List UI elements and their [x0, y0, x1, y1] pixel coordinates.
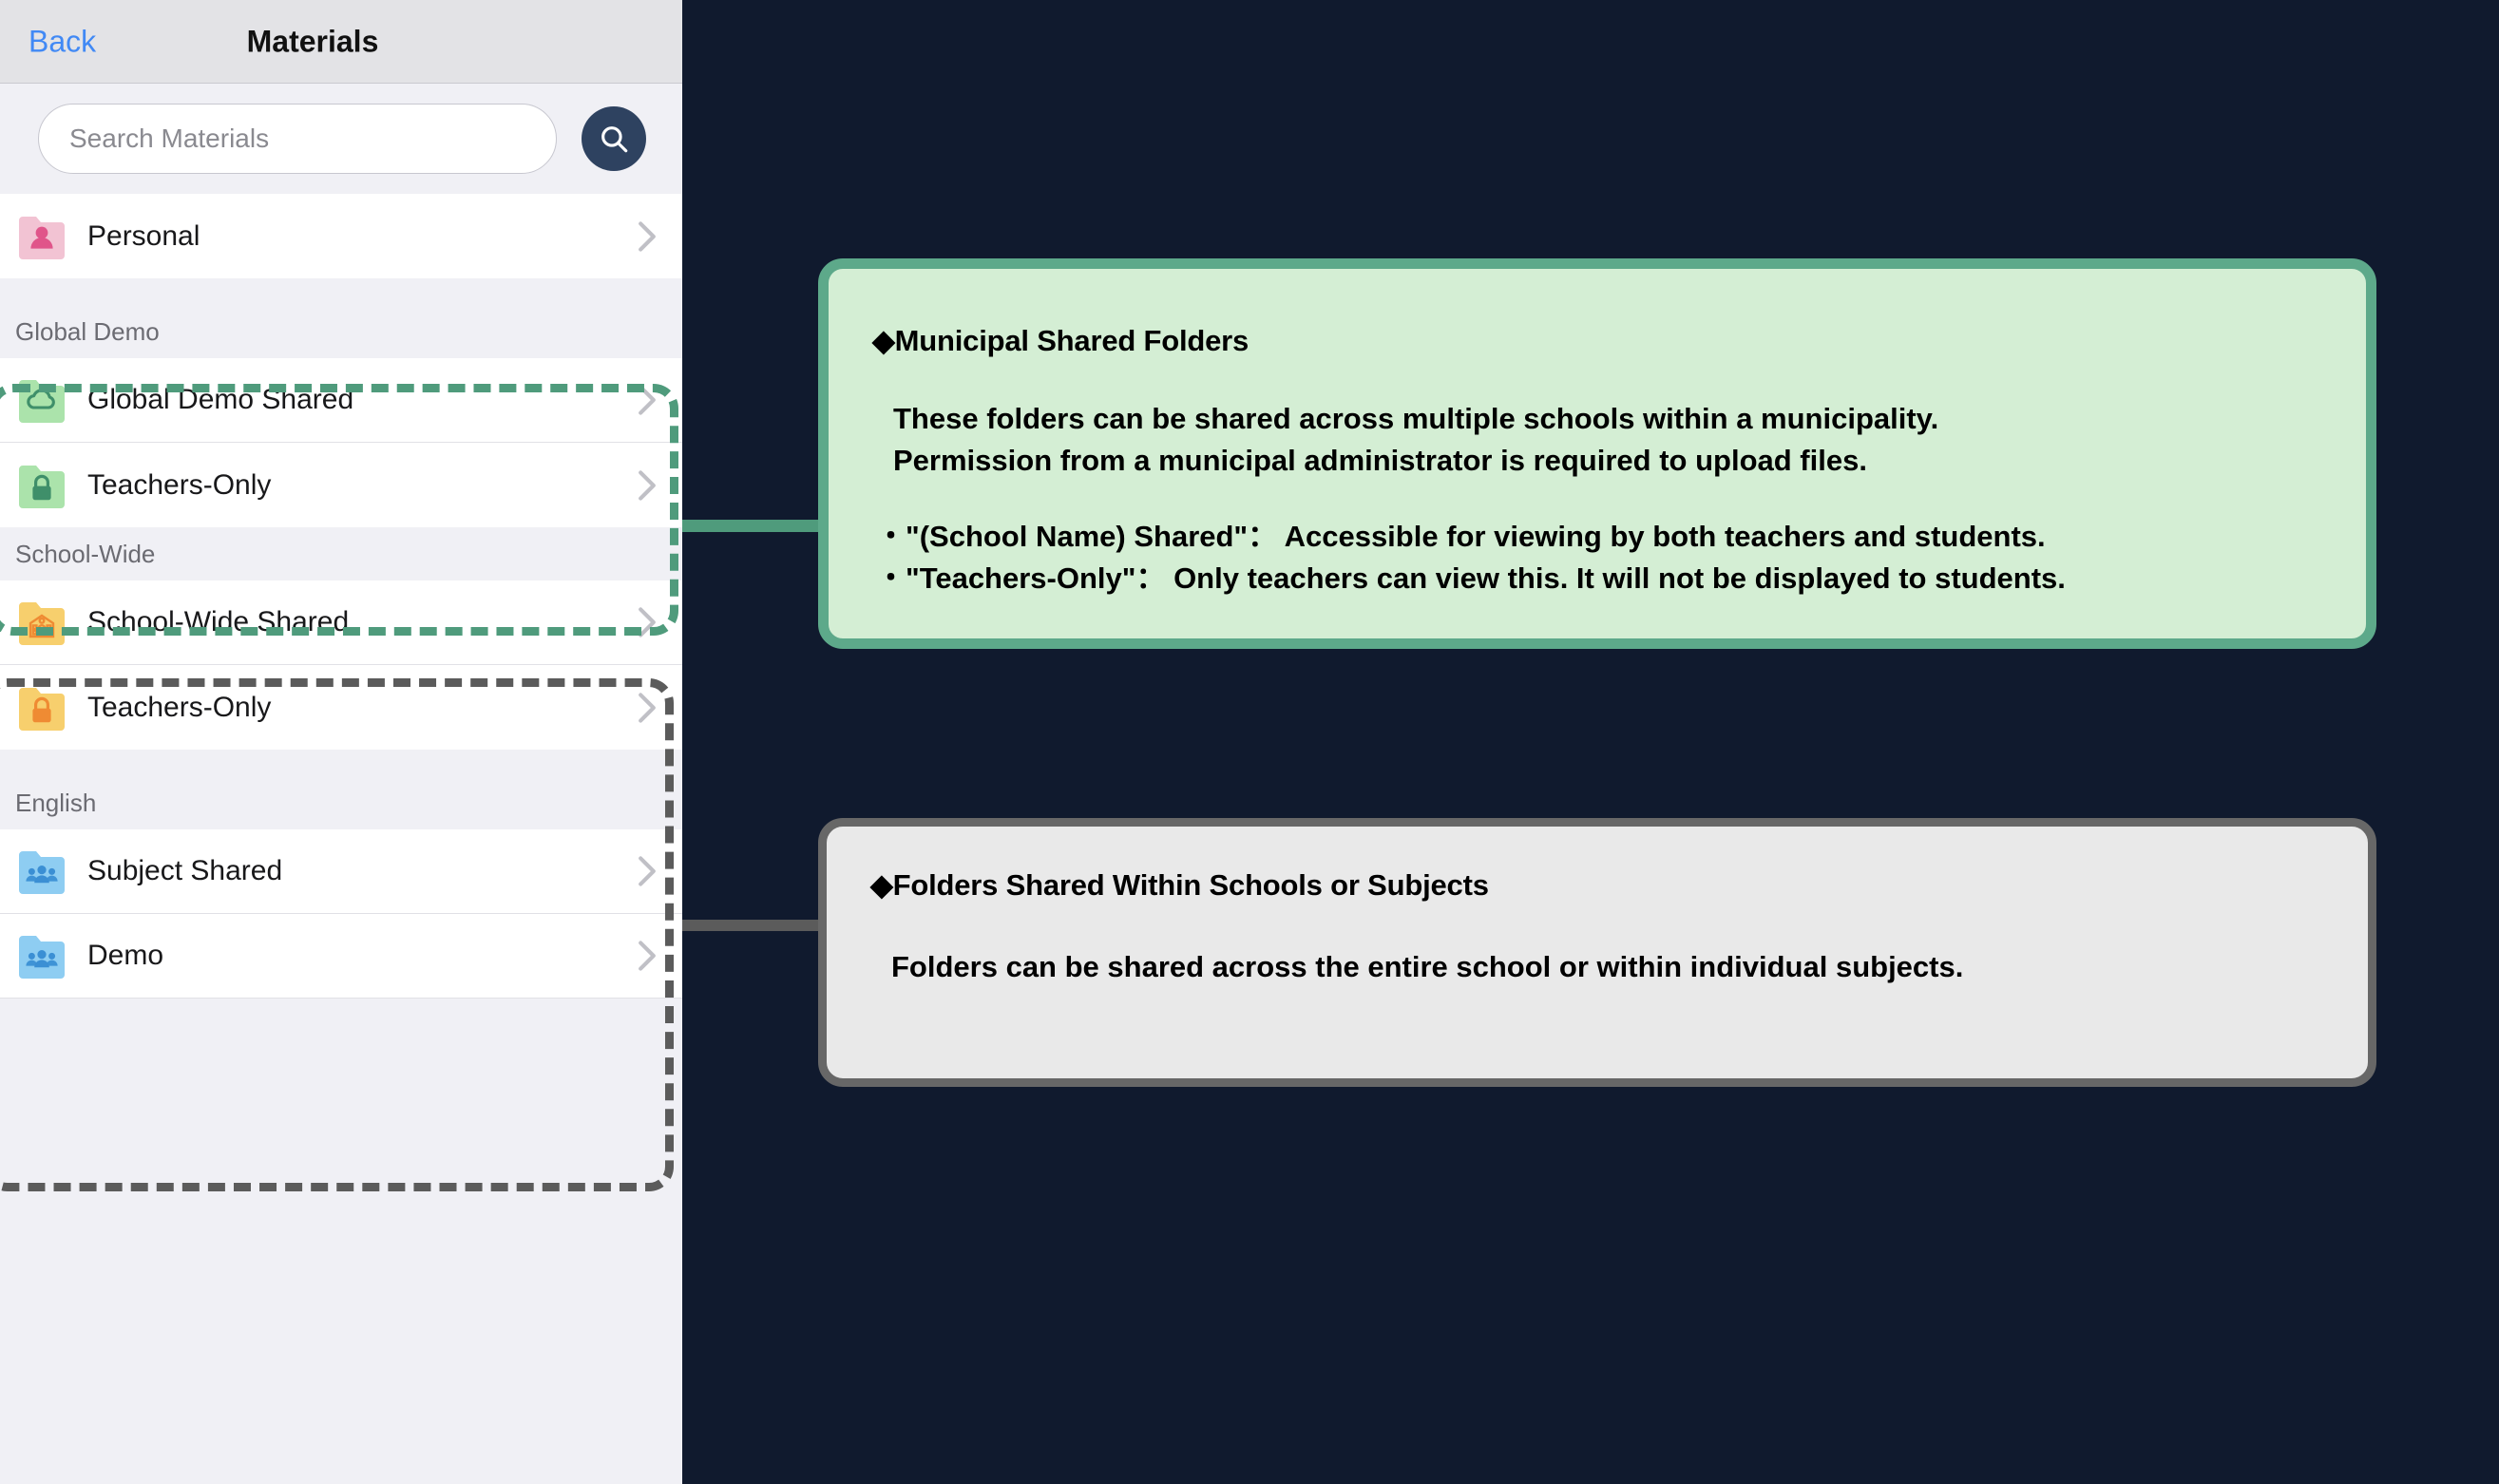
list-item-personal[interactable]: Personal [0, 194, 682, 278]
list-item-label: Global Demo Shared [87, 384, 637, 416]
search-input[interactable] [38, 104, 557, 174]
callout-paragraph: Folders can be shared across the entire … [870, 946, 2317, 988]
callout-bullet-item: ・"Teachers-Only"： Only teachers can view… [876, 558, 2315, 599]
list-spacer [0, 278, 682, 305]
materials-sidebar: Back Materials Personal G [0, 0, 682, 1484]
folder-lock-icon [17, 683, 67, 732]
connector-line-green [665, 520, 819, 532]
search-icon [598, 123, 630, 155]
section-header-english: English [0, 776, 682, 829]
callout-title: ◆Folders Shared Within Schools or Subjec… [870, 868, 2317, 903]
list-item-subject-shared[interactable]: Subject Shared [0, 829, 682, 914]
callout-folders-shared-within-schools: ◆Folders Shared Within Schools or Subjec… [818, 818, 2376, 1087]
list-item-school-wide-shared[interactable]: School-Wide Shared [0, 580, 682, 665]
list-spacer [0, 750, 682, 776]
list-item-global-demo-shared[interactable]: Global Demo Shared [0, 358, 682, 443]
callout-paragraph-line: Folders can be shared across the entire … [891, 946, 2317, 988]
navigation-bar: Back Materials [0, 0, 682, 84]
callout-paragraph-line: These folders can be shared across multi… [893, 398, 2315, 440]
list-item-label: Teachers-Only [87, 692, 637, 724]
callout-title: ◆Municipal Shared Folders [872, 324, 2315, 358]
chevron-right-icon [637, 606, 658, 638]
list-item-demo[interactable]: Demo [0, 914, 682, 999]
folder-group-icon [17, 931, 67, 980]
callout-paragraph-line: Permission from a municipal administrato… [893, 440, 2315, 482]
list-item-label: Teachers-Only [87, 469, 637, 502]
folder-cloud-icon [17, 375, 67, 425]
list-item-label: Subject Shared [87, 855, 637, 887]
chevron-right-icon [637, 940, 658, 972]
search-button[interactable] [582, 106, 646, 171]
chevron-right-icon [637, 384, 658, 416]
connector-line-gray [661, 920, 819, 931]
chevron-right-icon [637, 220, 658, 253]
folder-person-icon [17, 212, 67, 261]
folder-group-icon [17, 847, 67, 896]
callout-bullet-list: ・"(School Name) Shared"： Accessible for … [872, 516, 2315, 599]
section-header-global-demo: Global Demo [0, 305, 682, 358]
chevron-right-icon [637, 692, 658, 724]
page-title: Materials [0, 24, 682, 59]
chevron-right-icon [637, 855, 658, 887]
chevron-right-icon [637, 469, 658, 502]
section-header-school-wide: School-Wide [0, 527, 682, 580]
list-item-school-wide-teachers-only[interactable]: Teachers-Only [0, 665, 682, 750]
list-item-global-demo-teachers-only[interactable]: Teachers-Only [0, 443, 682, 527]
search-row [0, 84, 682, 194]
list-item-label: Demo [87, 940, 637, 972]
folder-school-icon [17, 598, 67, 647]
callout-paragraph: These folders can be shared across multi… [872, 398, 2315, 482]
list-item-label: School-Wide Shared [87, 606, 637, 638]
callout-municipal-shared-folders: ◆Municipal Shared Folders These folders … [818, 258, 2376, 649]
folder-lock-icon [17, 461, 67, 510]
list-item-label: Personal [87, 220, 637, 253]
callout-bullet-item: ・"(School Name) Shared"： Accessible for … [876, 516, 2315, 558]
